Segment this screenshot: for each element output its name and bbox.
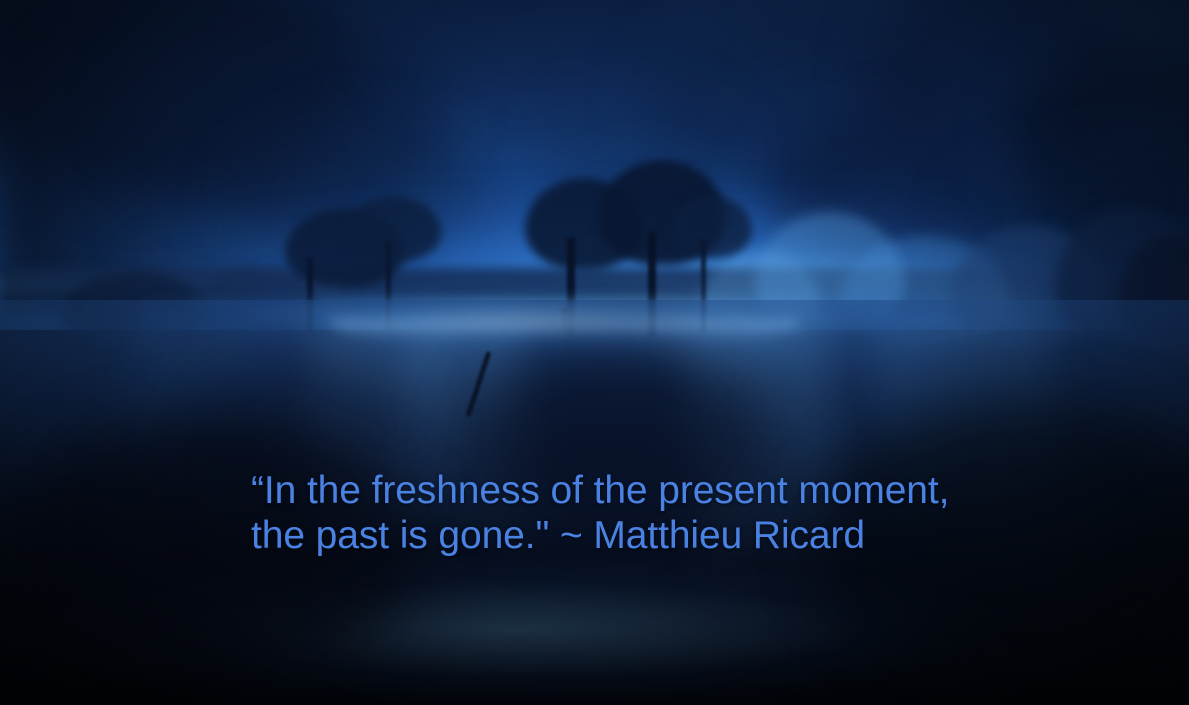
quote-block: “In the freshness of the present moment,…: [251, 468, 1011, 558]
quote-line-2: the past is gone." ~ Matthieu Ricard: [251, 513, 1011, 558]
tree-canopy: [672, 196, 752, 258]
quote-image-scene: “In the freshness of the present moment,…: [0, 0, 1189, 705]
quote-line-1: “In the freshness of the present moment,: [251, 468, 1011, 513]
tree-canopy: [345, 196, 441, 262]
